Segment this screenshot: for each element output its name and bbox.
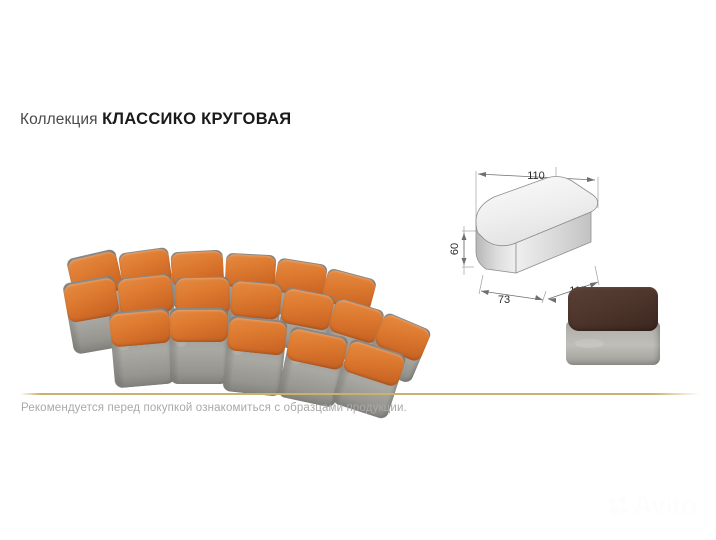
brown-paver-sample (566, 287, 660, 365)
paver-top-surface (230, 281, 283, 320)
paver-top-surface (226, 317, 287, 356)
paver-stone (222, 315, 288, 397)
avito-wordmark: Avito (633, 492, 697, 519)
divider-line (20, 393, 700, 395)
collection-name-label: КЛАССИКО КРУГОВАЯ (102, 110, 291, 128)
sample-top-surface (568, 287, 658, 331)
dimension-label-110: 110 (527, 170, 545, 182)
page-title: Коллекция КЛАССИКО КРУГОВАЯ (20, 111, 291, 128)
purchase-note: Рекомендуется перед покупкой ознакомитьс… (21, 402, 407, 414)
paver-top-surface (109, 310, 172, 348)
paver-stone (170, 308, 228, 384)
product-card-page: Коллекция КЛАССИКО КРУГОВАЯ (0, 0, 716, 540)
paver-top-surface (170, 310, 228, 342)
dimension-label-73: 73 (498, 294, 510, 306)
avito-watermark: Avito (608, 492, 697, 519)
avito-logo-icon (608, 496, 629, 516)
product-photo-paver-fan (60, 246, 460, 391)
title-prefix-label: Коллекция (20, 111, 98, 128)
paver-stone (109, 308, 175, 389)
dimension-label-60: 60 (449, 243, 461, 255)
